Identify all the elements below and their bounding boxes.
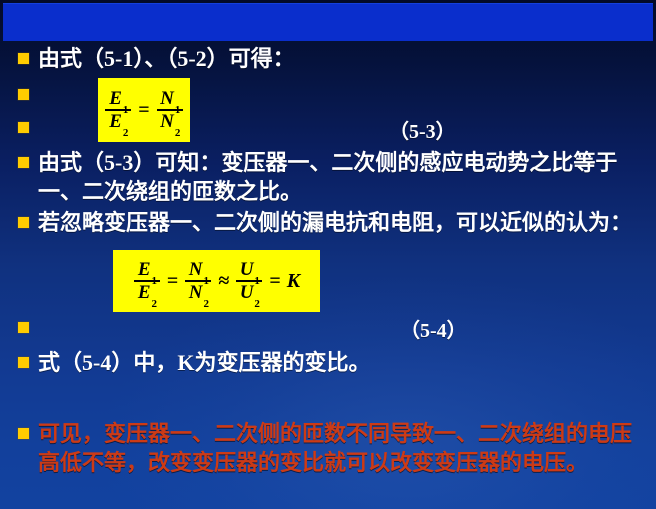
formula-expression-5-4: E1 E2 = N1 N2 ≈ U1 U2 = K — [131, 259, 302, 303]
bullet-row-4: 由式（5-3）可知：变压器一、二次侧的感应电动势之比等于一、二次绕组的匝数之比。 — [18, 148, 643, 206]
fraction-u1-u2: U1 U2 — [236, 259, 262, 303]
operator-equals: = — [138, 100, 149, 121]
fraction-n1-n2: N1 N2 — [157, 88, 183, 132]
formula-box-5-3: E1 E2 = N1 N2 — [98, 78, 190, 142]
variable-k: K — [287, 270, 300, 293]
bullet-text-1: 由式（5-1）、（5-2）可得： — [38, 44, 295, 73]
bullet-marker-icon — [18, 122, 29, 133]
formula-expression-5-3: E1 E2 = N1 N2 — [102, 88, 185, 132]
fraction-e1-e2: E1 E2 — [134, 259, 160, 303]
bullet-marker-icon — [18, 322, 29, 333]
bullet-marker-icon — [18, 53, 29, 64]
bullet-text-8: 可见，变压器一、二次侧的匝数不同导致一、二次绕组的电压高低不等，改变变压器的变比… — [38, 419, 638, 477]
fraction-numerator: U1 — [237, 259, 262, 280]
fraction-e1-e2: E1 E2 — [105, 88, 131, 132]
fraction-n1-n2: N1 N2 — [185, 259, 211, 303]
bullet-marker-icon — [18, 89, 29, 100]
operator-equals: = — [167, 271, 178, 292]
bullet-row-5: 若忽略变压器一、二次侧的漏电抗和电阻，可以近似的认为： — [18, 208, 643, 237]
bullet-row-8: 可见，变压器一、二次侧的匝数不同导致一、二次绕组的电压高低不等，改变变压器的变比… — [18, 419, 643, 477]
bullet-row-7: 式（5-4）中，K为变压器的变比。 — [18, 348, 638, 377]
bullet-marker-icon — [18, 157, 29, 168]
bullet-marker-icon — [18, 217, 29, 228]
bullet-marker-icon — [18, 428, 29, 439]
bullet-text-7: 式（5-4）中，K为变压器的变比。 — [38, 348, 370, 377]
formula-box-5-4: E1 E2 = N1 N2 ≈ U1 U2 = K — [113, 250, 320, 312]
slide-canvas: 由式（5-1）、（5-2）可得： E1 E2 = N1 N2 （5-3） — [0, 0, 656, 509]
operator-approx: ≈ — [218, 271, 229, 292]
slide-title-banner — [3, 3, 653, 41]
bullet-row-1: 由式（5-1）、（5-2）可得： — [18, 44, 638, 73]
equation-label-5-3: （5-3） — [389, 115, 456, 144]
bullet-text-5: 若忽略变压器一、二次侧的漏电抗和电阻，可以近似的认为： — [38, 208, 643, 237]
fraction-numerator: N1 — [157, 88, 182, 109]
fraction-numerator: N1 — [186, 259, 211, 280]
fraction-numerator: E1 — [106, 88, 130, 109]
equation-label-5-4: （5-4） — [400, 314, 467, 343]
fraction-numerator: E1 — [135, 259, 159, 280]
bullet-row-6 — [18, 313, 638, 333]
bullet-marker-icon — [18, 357, 29, 368]
operator-equals: = — [269, 271, 280, 292]
bullet-text-4: 由式（5-3）可知：变压器一、二次侧的感应电动势之比等于一、二次绕组的匝数之比。 — [38, 148, 638, 206]
